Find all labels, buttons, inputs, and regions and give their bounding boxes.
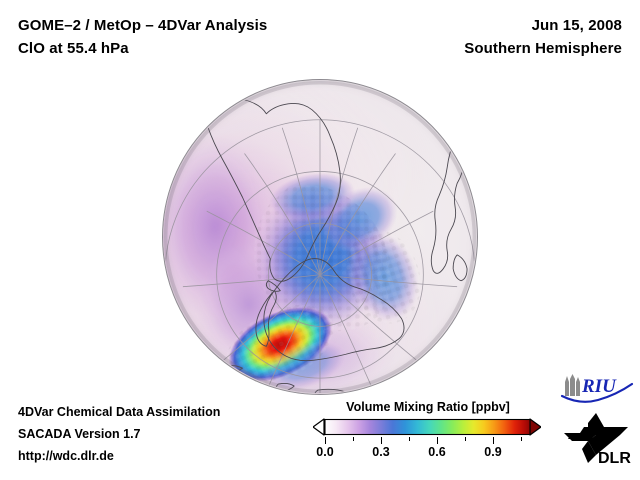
globe-map [162,79,478,395]
colorbar-tick-major [381,437,382,444]
colorbar-tick-labels: 0.0 0.3 0.6 0.9 [300,445,556,463]
colorbar-gradient-area [313,417,541,437]
colorbar-arrow-right [530,419,541,435]
colorbar: Volume Mixing Ratio [ppbv] [300,400,556,470]
footer-text: 4DVar Chemical Data Assimilation SACADA … [18,401,220,467]
hemisphere-label: Southern Hemisphere [464,37,622,60]
colorbar-tick-label: 0.0 [316,445,333,459]
riu-wordmark: RIU [581,376,617,397]
header-left: GOME–2 / MetOp – 4DVar Analysis ClO at 5… [18,14,267,60]
data-field [163,136,432,394]
colorbar-swatch [313,417,541,437]
colorbar-tick-minor [353,437,354,441]
dlr-logo-graphic: DLR [558,411,634,469]
date-label: Jun 15, 2008 [464,14,622,37]
colorbar-ticks [313,437,541,445]
header-right: Jun 15, 2008 Southern Hemisphere [464,14,622,60]
coast-africa [431,136,465,274]
page-subtitle: ClO at 55.4 hPa [18,37,267,60]
globe-vector-layer [163,80,477,394]
colorbar-title: Volume Mixing Ratio [ppbv] [300,400,556,414]
colorbar-tick-label: 0.3 [372,445,389,459]
colorbar-tick-major [493,437,494,444]
footer-line-method: 4DVar Chemical Data Assimilation [18,401,220,423]
colorbar-arrow-left [313,419,324,435]
colorbar-tick-minor [521,437,522,441]
riu-logo: RIU [560,373,634,406]
footer-line-version: SACADA Version 1.7 [18,423,220,445]
colorbar-ramp [325,420,530,435]
globe-clipped-content [163,81,476,394]
coast-madagascar [453,255,467,281]
colorbar-tick-major [437,437,438,444]
colorbar-tick-minor [465,437,466,441]
riu-logo-graphic: RIU [560,373,634,406]
dlr-logo: DLR [558,411,634,469]
colorbar-tick-label: 0.9 [484,445,501,459]
riu-towers-icon [565,374,580,396]
page-title: GOME–2 / MetOp – 4DVar Analysis [18,14,267,37]
globe-disc [162,79,478,395]
colorbar-tick-minor [409,437,410,441]
footer-line-url: http://wdc.dlr.de [18,445,220,467]
dlr-wordmark: DLR [598,450,631,467]
colorbar-tick-label: 0.6 [428,445,445,459]
colorbar-tick-major [325,437,326,444]
